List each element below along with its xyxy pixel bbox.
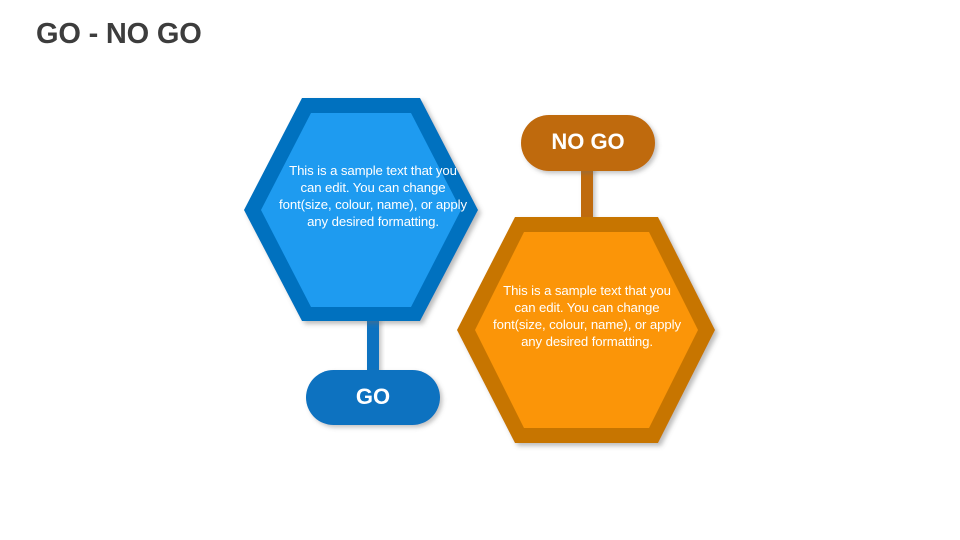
pill-no-go-label: NO GO: [521, 129, 655, 155]
connector-stem-go: [367, 316, 379, 378]
go-no-go-diagram: This is a sample text that you can edit.…: [0, 0, 960, 540]
pill-go-label: GO: [306, 384, 440, 410]
slide-canvas: GO - NO GO: [0, 0, 960, 540]
hexagon-no-go-body-text: This is a sample text that you can edit.…: [493, 282, 681, 351]
hexagon-go-body-text: This is a sample text that you can edit.…: [279, 162, 467, 231]
diagram-shapes: [0, 0, 960, 540]
